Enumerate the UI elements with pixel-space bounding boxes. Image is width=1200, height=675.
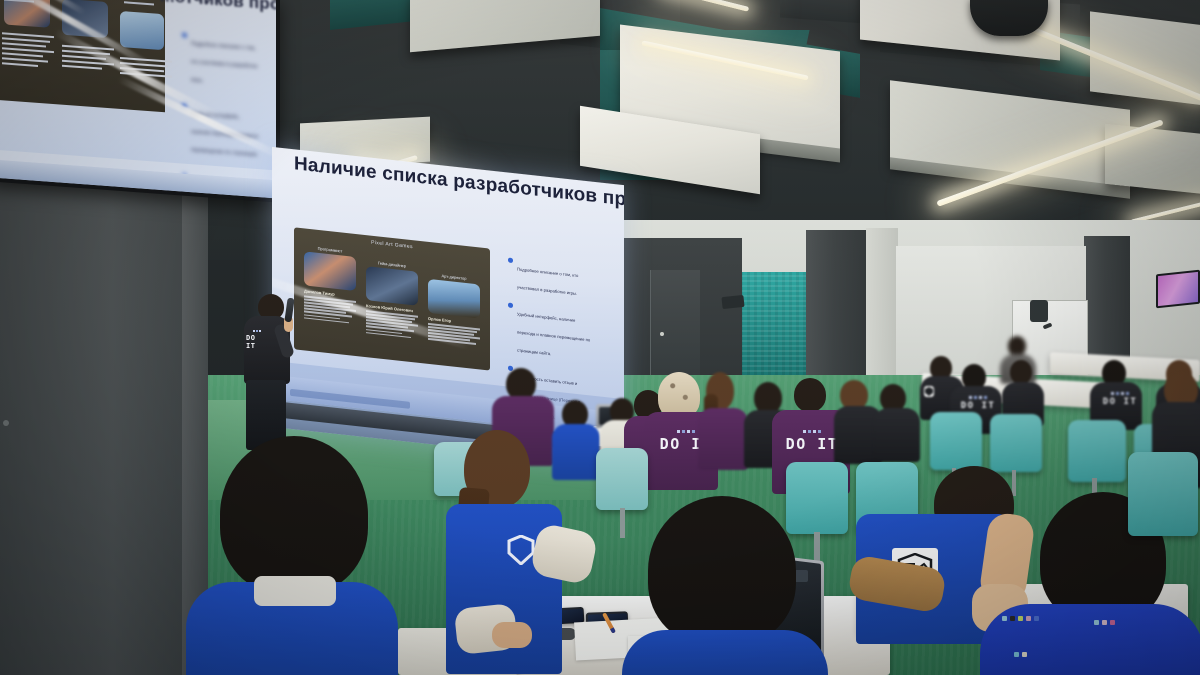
secondary-monitor bbox=[1156, 270, 1200, 309]
chair bbox=[786, 462, 848, 534]
shirt-emblem-icon bbox=[924, 386, 934, 397]
chair bbox=[990, 414, 1042, 472]
slide-bullet-text: Подробное описание о том, кто участвовал… bbox=[517, 266, 578, 296]
slide-bullet: Удобный интерфейс, наличие перехода и пл… bbox=[508, 302, 592, 365]
classroom-photo-scene: ...отчиков проекта Подробное описание о … bbox=[0, 0, 1200, 675]
person-head bbox=[648, 496, 796, 646]
chair bbox=[1068, 420, 1126, 482]
chair bbox=[1128, 452, 1198, 536]
bullet-dot-icon bbox=[508, 258, 513, 263]
chair bbox=[596, 448, 648, 510]
person-shirt bbox=[622, 630, 828, 675]
wall-mounted-tv: ...отчиков проекта Подробное описание о … bbox=[0, 0, 280, 203]
bullet-dot-icon bbox=[508, 303, 513, 308]
far-door bbox=[650, 270, 700, 380]
tv-slide-title: ...отчиков проекта bbox=[160, 0, 276, 17]
slide-bullet-text: Удобный интерфейс, наличие перехода и пл… bbox=[517, 311, 590, 356]
shirt-pixel-print bbox=[1094, 620, 1115, 625]
chair bbox=[930, 412, 982, 470]
person-shirt bbox=[980, 604, 1200, 675]
slide-bullet: Подробное описание о том, кто участвовал… bbox=[508, 257, 592, 302]
teal-tile-wall bbox=[740, 272, 812, 382]
shirt-pixel-print bbox=[1002, 616, 1039, 621]
foreground-column-left bbox=[0, 150, 205, 675]
person-head bbox=[220, 436, 368, 594]
shirt-pixel-print bbox=[1014, 652, 1027, 657]
